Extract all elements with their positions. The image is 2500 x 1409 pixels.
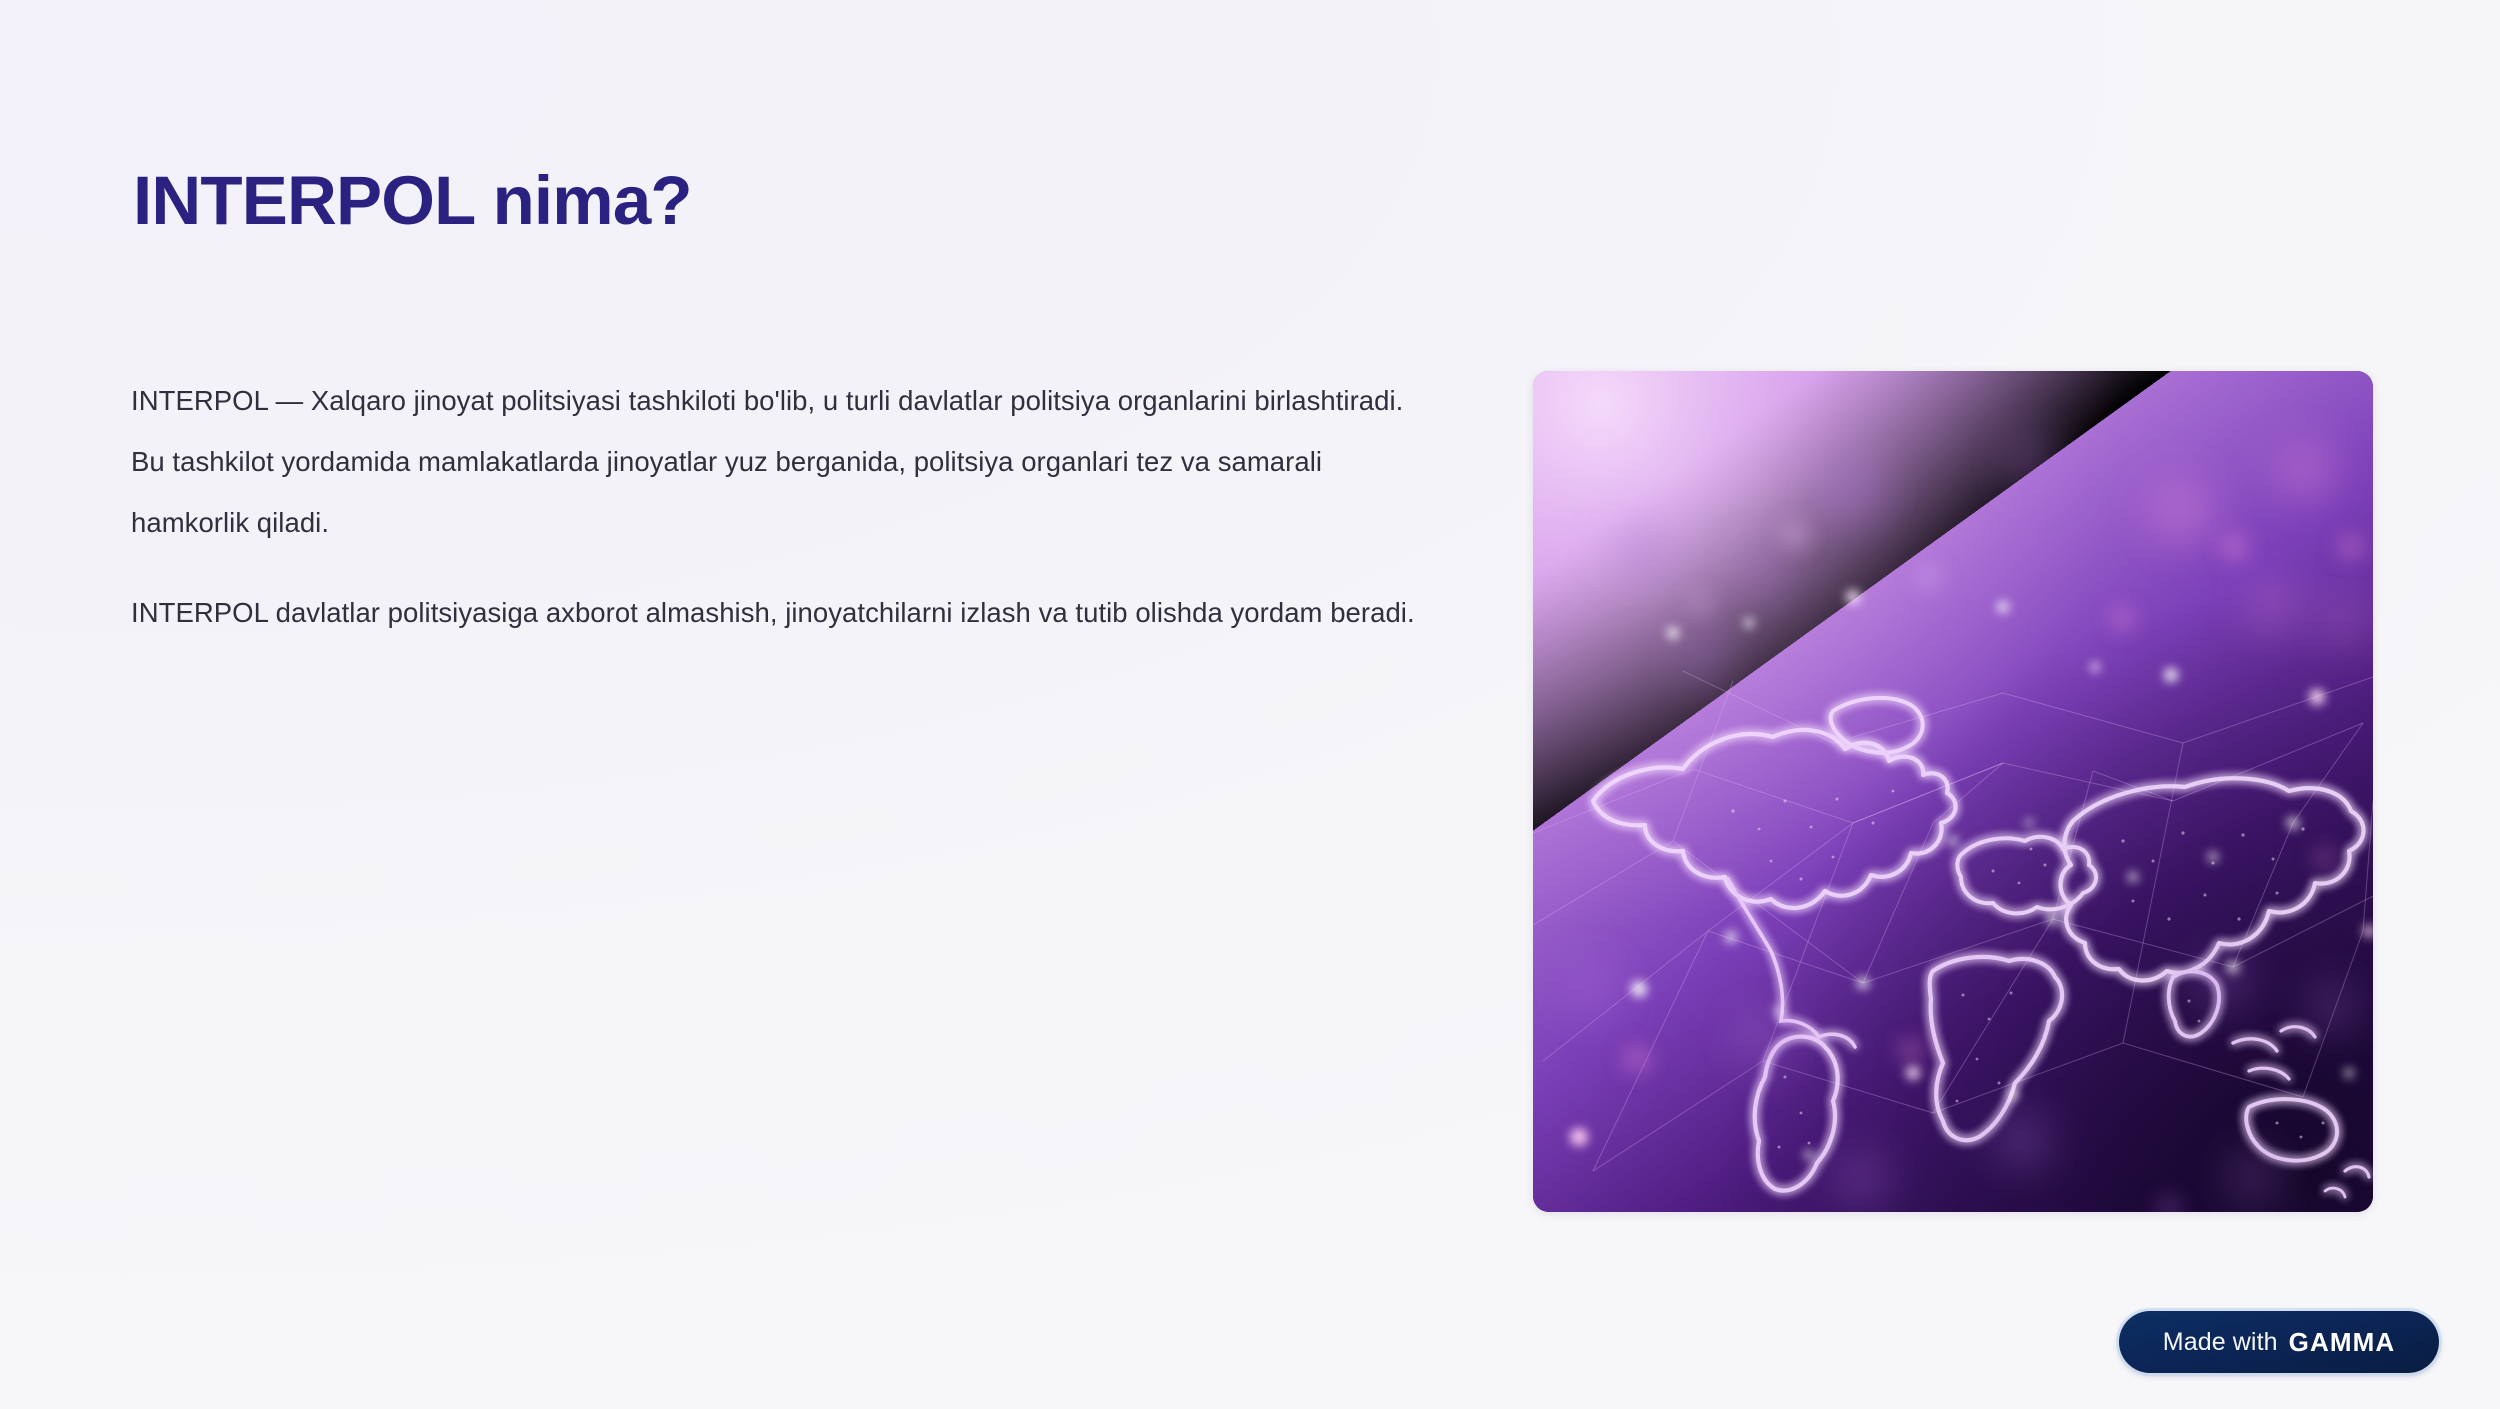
made-with-label: Made with [2163, 1328, 2278, 1357]
slide-canvas: INTERPOL nima? INTERPOL — Xalqaro jinoya… [0, 0, 2500, 1409]
world-map-network-illustration [1533, 371, 2373, 1212]
gamma-logo-wordmark: GAMMA [2289, 1327, 2396, 1358]
page-title: INTERPOL nima? [133, 164, 692, 237]
paragraph-1: INTERPOL — Xalqaro jinoyat politsiyasi t… [131, 370, 1421, 553]
paragraph-2: INTERPOL davlatlar politsiyasiga axborot… [131, 582, 1421, 643]
body-copy: INTERPOL — Xalqaro jinoyat politsiyasi t… [131, 370, 1421, 643]
made-with-gamma-badge[interactable]: Made with GAMMA [2119, 1311, 2439, 1373]
